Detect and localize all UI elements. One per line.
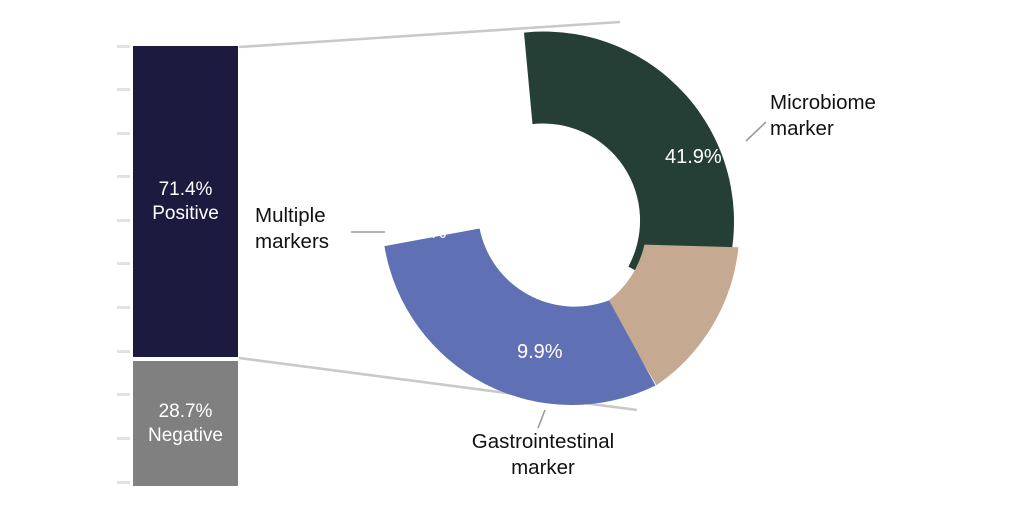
donut-label-gastrointestinal-marker-line1: Gastrointestinal: [455, 429, 631, 455]
donut-label-microbiome-marker: Microbiome marker: [770, 90, 876, 141]
donut-label-multiple-markers-line1: Multiple: [255, 203, 351, 229]
donut-label-multiple-markers-line2: markers: [255, 229, 351, 255]
donut-label-microbiome-marker-line2: marker: [770, 116, 876, 142]
donut-label-multiple-markers: Multiple markers: [255, 203, 351, 254]
donut-label-gastrointestinal-marker-line2: marker: [455, 455, 631, 481]
donut-label-gastrointestinal-marker: Gastrointestinal marker: [455, 429, 631, 480]
donut-label-microbiome-marker-line1: Microbiome: [770, 90, 876, 116]
leader-line-microbiome-marker: [746, 122, 766, 141]
leader-line-gastrointestinal-marker: [538, 410, 545, 428]
chart-figure: 71.4% Positive 28.7% Negative 41.9% 9.9%…: [0, 0, 1024, 512]
